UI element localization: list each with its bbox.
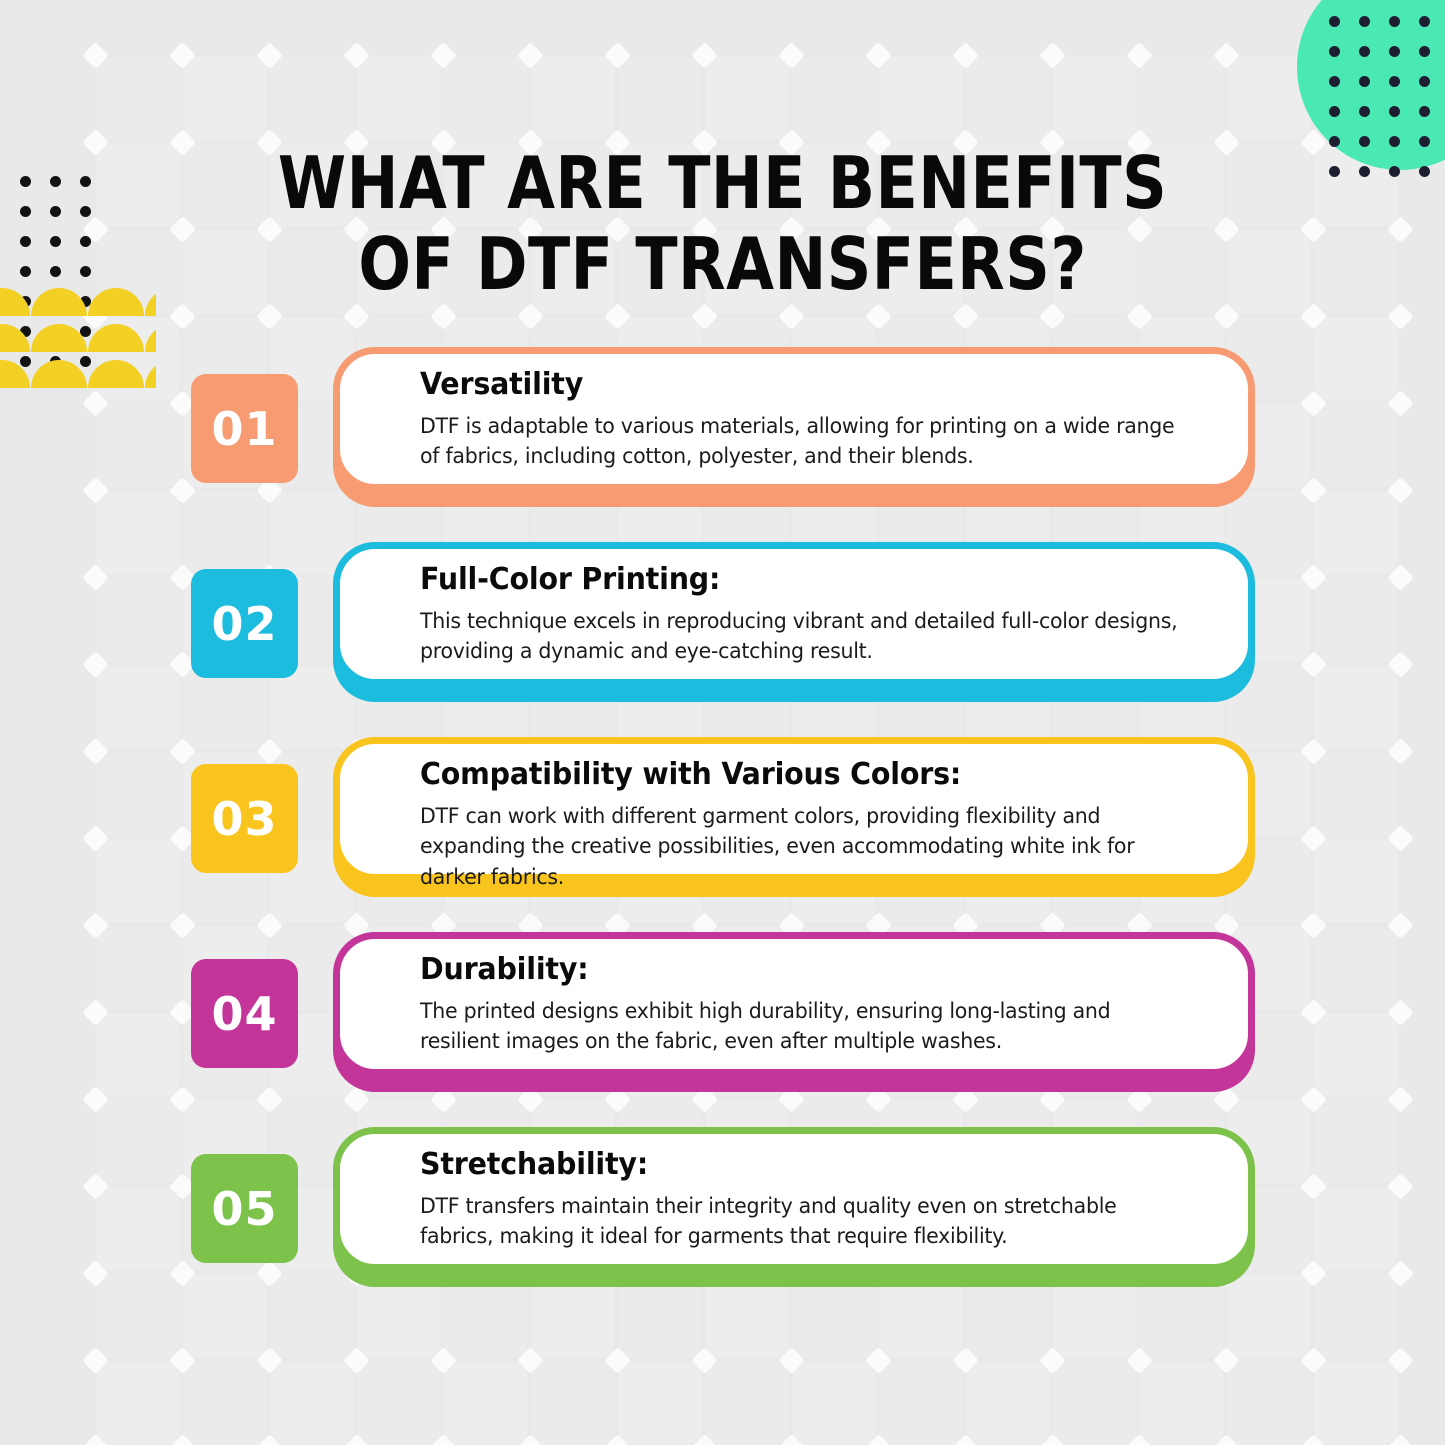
grid-diamond [691, 1347, 718, 1374]
benefit-card-body: Durability:The printed designs exhibit h… [333, 932, 1255, 1076]
semicircle-shape [31, 288, 87, 316]
benefit-row: 03Compatibility with Various Colors:DTF … [191, 737, 1255, 897]
grid-diamond [256, 1347, 283, 1374]
grid-diamond [865, 42, 892, 69]
benefit-number-label: 04 [211, 987, 277, 1041]
decor-dot [20, 236, 31, 247]
semicircle-shape [31, 360, 87, 388]
grid-diamond [517, 1347, 544, 1374]
semicircle-shape [145, 324, 156, 352]
grid-diamond [1300, 912, 1327, 939]
benefit-number-badge: 03 [191, 764, 298, 873]
semicircle-shape [0, 360, 30, 388]
grid-diamond [430, 303, 457, 330]
grid-diamond [82, 564, 109, 591]
grid-diamond [430, 42, 457, 69]
grid-diamond [517, 303, 544, 330]
benefit-card: VersatilityDTF is adaptable to various m… [333, 347, 1255, 507]
grid-diamond [169, 42, 196, 69]
grid-diamond [865, 303, 892, 330]
grid-diamond [82, 1173, 109, 1200]
benefit-number-label: 02 [211, 597, 277, 651]
page-title: WHAT ARE THE BENEFITS OF DTF TRANSFERS? [256, 143, 1189, 306]
benefit-number-badge: 04 [191, 959, 298, 1068]
decor-dot [20, 206, 31, 217]
decor-dot [50, 266, 61, 277]
benefit-card: Stretchability:DTF transfers maintain th… [333, 1127, 1255, 1287]
benefit-description: DTF transfers maintain their integrity a… [420, 1192, 1186, 1253]
benefit-card-body: Compatibility with Various Colors:DTF ca… [333, 737, 1255, 881]
benefit-title: Durability: [420, 953, 1182, 988]
grid-diamond [604, 42, 631, 69]
grid-diamond [1126, 42, 1153, 69]
semicircle-row [0, 354, 156, 388]
grid-diamond [778, 1347, 805, 1374]
grid-diamond [1213, 303, 1240, 330]
benefit-card: Compatibility with Various Colors:DTF ca… [333, 737, 1255, 897]
grid-diamond [1039, 303, 1066, 330]
grid-diamond [82, 651, 109, 678]
benefit-row: 01VersatilityDTF is adaptable to various… [191, 347, 1255, 507]
benefit-description: DTF is adaptable to various materials, a… [420, 412, 1186, 473]
grid-diamond [778, 303, 805, 330]
grid-diamond [952, 1347, 979, 1374]
grid-diamond [952, 303, 979, 330]
grid-diamond [1300, 1173, 1327, 1200]
benefit-title: Versatility [420, 368, 1182, 403]
grid-diamond [1300, 564, 1327, 591]
benefit-number-badge: 05 [191, 1154, 298, 1263]
decor-dot [50, 176, 61, 187]
decor-dot [80, 206, 91, 217]
grid-diamond [82, 129, 109, 156]
benefit-description: DTF can work with different garment colo… [420, 802, 1186, 894]
benefit-description: The printed designs exhibit high durabil… [420, 997, 1186, 1058]
grid-diamond [82, 477, 109, 504]
benefit-card-body: Full-Color Printing:This technique excel… [333, 542, 1255, 686]
semicircle-shape [0, 288, 30, 316]
grid-diamond [82, 1347, 109, 1374]
benefit-number-label: 01 [211, 402, 277, 456]
grid-diamond [1126, 1347, 1153, 1374]
grid-diamond [1300, 999, 1327, 1026]
semicircle-shape [88, 324, 144, 352]
grid-diamond [604, 303, 631, 330]
infographic-canvas: WHAT ARE THE BENEFITS OF DTF TRANSFERS? … [0, 0, 1445, 1445]
benefit-row: 02Full-Color Printing:This technique exc… [191, 542, 1255, 702]
grid-diamond [1213, 216, 1240, 243]
benefit-title: Compatibility with Various Colors: [420, 758, 1182, 793]
grid-diamond [82, 1260, 109, 1287]
grid-diamond [1213, 129, 1240, 156]
semicircle-shape [0, 324, 30, 352]
grid-diamond [952, 42, 979, 69]
grid-diamond [82, 390, 109, 417]
grid-diamond [82, 999, 109, 1026]
grid-diamond [1039, 1347, 1066, 1374]
grid-diamond [1300, 390, 1327, 417]
grid-diamond [1300, 738, 1327, 765]
decor-dot [80, 266, 91, 277]
grid-diamond [169, 303, 196, 330]
decor-dot [20, 176, 31, 187]
grid-diamond [865, 1347, 892, 1374]
grid-diamond [1300, 477, 1327, 504]
benefit-card-body: Stretchability:DTF transfers maintain th… [333, 1127, 1255, 1271]
semicircle-shape [145, 288, 156, 316]
benefit-row: 04Durability:The printed designs exhibit… [191, 932, 1255, 1092]
decor-dot [50, 236, 61, 247]
grid-diamond [1300, 651, 1327, 678]
grid-diamond [169, 129, 196, 156]
grid-diamond [82, 825, 109, 852]
grid-diamond [1300, 303, 1327, 330]
grid-diamond [1300, 216, 1327, 243]
grid-diamond [82, 912, 109, 939]
decor-dot [80, 176, 91, 187]
benefit-card: Full-Color Printing:This technique excel… [333, 542, 1255, 702]
grid-diamond [1300, 1260, 1327, 1287]
grid-diamond [1126, 303, 1153, 330]
benefit-number-label: 03 [211, 792, 277, 846]
grid-diamond [517, 42, 544, 69]
grid-diamond [343, 303, 370, 330]
grid-diamond [343, 1347, 370, 1374]
semicircle-row [0, 282, 156, 316]
semicircle-shape [88, 288, 144, 316]
semicircle-shape [31, 324, 87, 352]
semicircle-shape [145, 360, 156, 388]
benefit-number-badge: 01 [191, 374, 298, 483]
benefit-card: Durability:The printed designs exhibit h… [333, 932, 1255, 1092]
grid-diamond [256, 303, 283, 330]
grid-diamond [604, 1347, 631, 1374]
grid-diamond [691, 42, 718, 69]
grid-diamond [343, 42, 370, 69]
grid-diamond [82, 738, 109, 765]
semicircle-row [0, 318, 156, 352]
benefit-number-badge: 02 [191, 569, 298, 678]
grid-diamond [169, 1347, 196, 1374]
decor-dot [50, 206, 61, 217]
benefit-title: Stretchability: [420, 1148, 1182, 1183]
grid-diamond [82, 216, 109, 243]
semicircle-pattern-decoration [0, 282, 156, 389]
decor-dot [20, 266, 31, 277]
grid-diamond [256, 42, 283, 69]
benefit-row: 05Stretchability:DTF transfers maintain … [191, 1127, 1255, 1287]
grid-diamond [1213, 1347, 1240, 1374]
grid-diamond [82, 42, 109, 69]
grid-diamond [1213, 42, 1240, 69]
grid-diamond [778, 42, 805, 69]
grid-diamond [430, 1347, 457, 1374]
grid-diamond [82, 1086, 109, 1113]
benefit-card-body: VersatilityDTF is adaptable to various m… [333, 347, 1255, 491]
grid-diamond [1300, 825, 1327, 852]
grid-diamond [1039, 42, 1066, 69]
grid-diamond [691, 303, 718, 330]
benefit-description: This technique excels in reproducing vib… [420, 607, 1186, 668]
grid-diamond [1300, 1086, 1327, 1113]
grid-diamond [169, 216, 196, 243]
benefit-title: Full-Color Printing: [420, 563, 1182, 598]
semicircle-shape [88, 360, 144, 388]
grid-diamond [1300, 1347, 1327, 1374]
benefit-number-label: 05 [211, 1182, 277, 1236]
